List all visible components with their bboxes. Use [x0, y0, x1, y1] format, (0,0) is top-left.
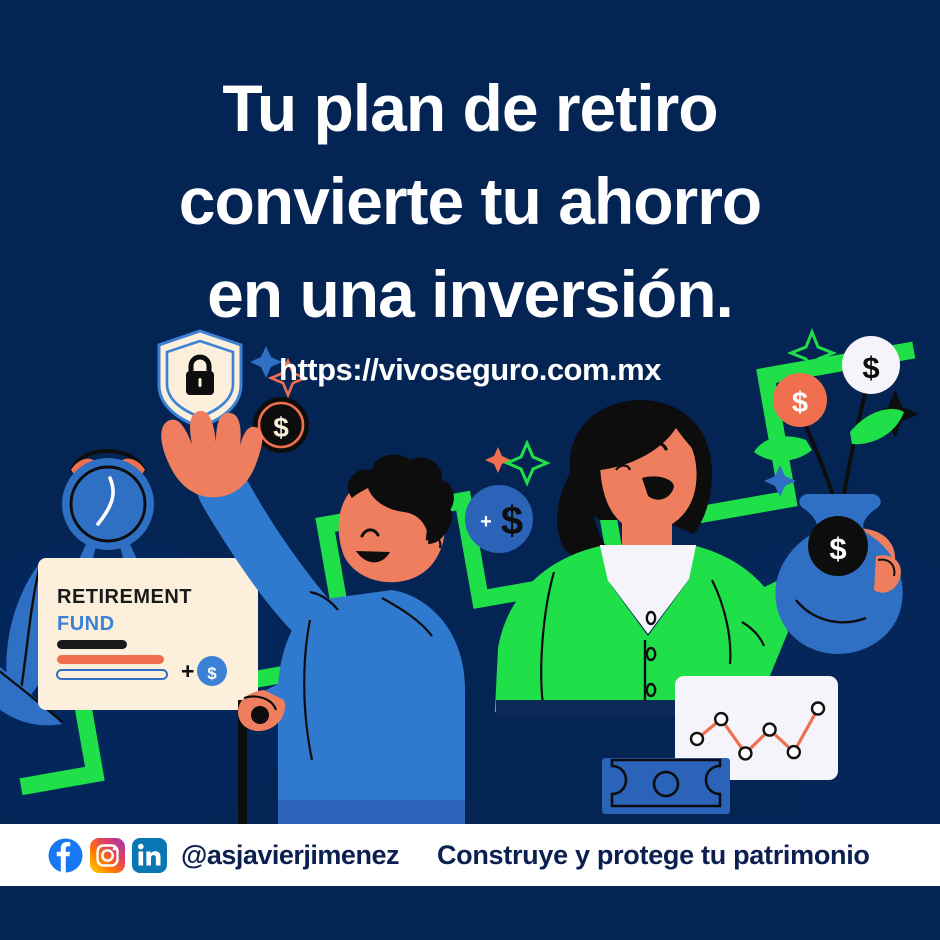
footer-bar: @asjavierjimenez Construye y protege tu …	[0, 824, 940, 886]
svg-text:$: $	[207, 664, 217, 683]
headline-line-3: en una inversión.	[0, 248, 940, 341]
chart-point	[739, 747, 751, 759]
headline-line-2: convierte tu ahorro	[0, 155, 940, 248]
svg-text:FUND: FUND	[57, 613, 115, 635]
website-url[interactable]: https://vivoseguro.com.mx	[0, 352, 940, 388]
svg-text:$: $	[501, 499, 523, 543]
coin-blue-plus-icon: + $	[465, 485, 533, 553]
svg-text:$: $	[273, 412, 289, 443]
headline-line-1: Tu plan de retiro	[0, 62, 940, 155]
linkedin-icon[interactable]	[132, 838, 167, 873]
poster-canvas: $ RETIREMENT FUND + $ + $	[0, 0, 940, 940]
svg-text:+: +	[181, 658, 194, 684]
social-handle[interactable]: @asjavierjimenez	[181, 840, 399, 871]
facebook-icon[interactable]	[48, 838, 83, 873]
headline: Tu plan de retiro convierte tu ahorro en…	[0, 62, 940, 341]
chart-point	[715, 713, 727, 725]
footer-tagline: Construye y protege tu patrimonio	[437, 840, 870, 871]
chart-point	[812, 703, 824, 715]
instagram-icon[interactable]	[90, 838, 125, 873]
svg-text:+: +	[480, 511, 492, 533]
chart-point	[764, 724, 776, 736]
chart-point	[691, 733, 703, 745]
svg-text:RETIREMENT: RETIREMENT	[57, 586, 192, 608]
social-icons	[48, 838, 167, 873]
chart-point	[788, 746, 800, 758]
banknote-icon	[602, 758, 730, 814]
svg-text:$: $	[829, 531, 846, 566]
footer-bottom-strip	[0, 886, 940, 940]
retirement-fund-card: RETIREMENT FUND + $	[38, 558, 258, 710]
svg-text:$: $	[792, 387, 808, 419]
